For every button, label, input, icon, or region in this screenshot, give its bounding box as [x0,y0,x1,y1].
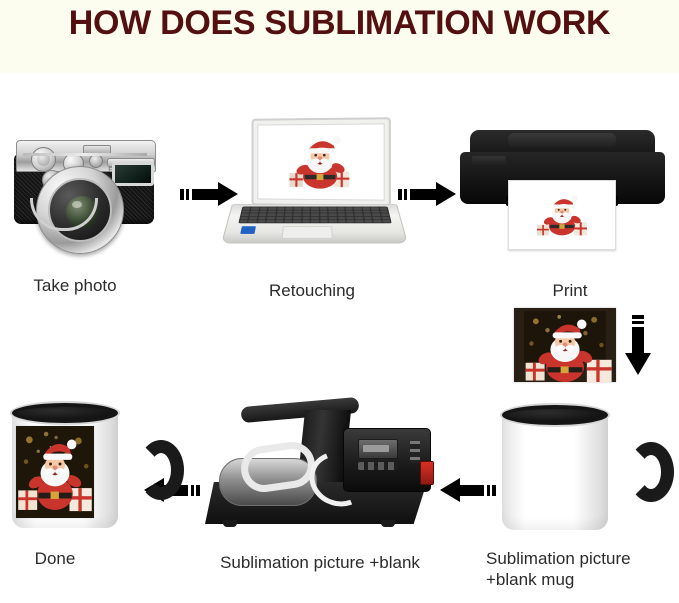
blank-mug-illustration [502,412,642,540]
arrow-camera-to-laptop [180,180,240,208]
laptop-base [221,204,408,244]
santa-artwork-printed [516,186,608,244]
finished-mug-rim [10,401,120,425]
printed-photo [514,308,616,382]
santa-artwork-screen [258,124,383,199]
camera-viewfinder [112,162,154,186]
press-control-box [343,428,431,492]
printer-output-paper [508,180,616,250]
caption-blank-mug: Sublimation picture +blank mug [486,548,676,590]
laptop-trackpad [282,226,333,238]
santa-artwork-mug [16,426,94,518]
page-title: HOW DOES SUBLIMATION WORK [0,1,679,45]
laptop-illustration [232,118,397,258]
blank-mug-handle [628,442,674,502]
press-foot-left [223,520,237,527]
press-foot-right [381,520,395,527]
laptop-keyboard [238,207,391,224]
press-power-switch[interactable] [420,461,434,485]
printer-illustration: Canon [460,130,665,260]
santa-artwork-photo [514,308,616,382]
mug-heat-press-illustration [205,400,435,540]
laptop-lid [252,117,391,207]
arrow-mug-to-press [438,476,498,504]
caption-retouching: Retouching [242,280,382,301]
caption-done: Done [0,548,110,569]
press-digital-display [358,439,398,459]
camera-illustration: FUJIFILM [8,118,163,253]
blank-mug-rim [500,403,610,427]
press-indicator-lights [410,441,420,463]
finished-mug-artwork [16,426,94,518]
camera-shutter-button [89,154,103,168]
finished-mug-handle [138,440,184,500]
camera-shutter-dial [31,147,56,172]
camera-hotshoe [83,145,111,155]
blank-mug-body [502,412,608,530]
laptop-screen [257,123,384,200]
finished-mug-illustration [12,410,152,538]
laptop-processor-badge [240,226,256,234]
caption-heat-press: Sublimation picture +blank [185,552,455,573]
caption-print: Print [500,280,640,301]
arrow-printer-to-mug [624,315,652,377]
press-buttons[interactable] [358,462,398,470]
caption-take-photo: Take photo [5,275,145,296]
arrow-laptop-to-printer [398,180,458,208]
infographic-canvas: HOW DOES SUBLIMATION WORK FUJIFILM Take … [0,0,679,603]
printer-control-panel[interactable] [472,156,506,167]
